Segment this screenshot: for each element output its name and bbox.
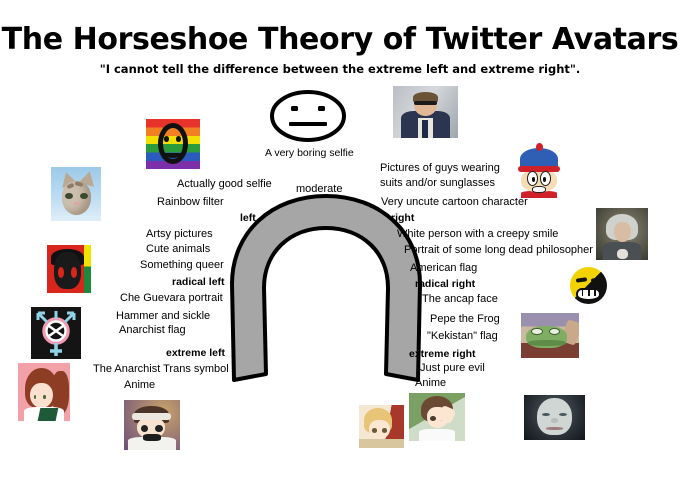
anime-girl-pink-avatar: [18, 363, 70, 421]
animeboy-headband: [132, 413, 171, 420]
animeboy-eye-left: [141, 425, 148, 432]
voldemort-eye-right: [559, 413, 567, 416]
right-axis-label: right: [391, 212, 414, 225]
extreme-right-item: Just pure evil: [420, 362, 485, 375]
radical-right-label: radical right: [415, 278, 475, 291]
ancap-face-avatar: [567, 263, 611, 307]
left-moderate-item: Rainbow filter: [157, 196, 224, 209]
page-subtitle: "I cannot tell the difference between th…: [0, 62, 680, 76]
right-item: American flag: [410, 262, 477, 275]
radical-right-item: Pepe the Frog: [430, 313, 500, 326]
smiley-mouth: [165, 148, 181, 158]
radical-left-item: Hammer and sickle: [116, 310, 210, 323]
che-guevara-poster-avatar: [47, 245, 91, 293]
south-park-stan-avatar: [513, 140, 565, 198]
smiley-eye-right: [176, 136, 181, 142]
right-item: Portrait of some long dead philosopher: [404, 244, 593, 257]
poster-color-band: [84, 245, 91, 293]
pepe-the-frog-avatar: [521, 313, 579, 358]
right-moderate-item: Very uncute cartoon character: [381, 196, 528, 209]
extreme-left-item: The Anarchist Trans symbol: [93, 363, 229, 376]
anarchist-trans-glyph-icon: [31, 307, 81, 359]
rainbow-smiley-avatar: [146, 119, 200, 169]
left-item: Artsy pictures: [146, 228, 213, 241]
radical-right-item: "Kekistan" flag: [427, 330, 498, 343]
kitten-nose: [74, 202, 79, 206]
kitten-eye-right: [80, 193, 88, 199]
smiley-eye-left: [164, 136, 169, 142]
animeboy-eye-right: [155, 425, 162, 432]
suit-sunglasses-photo-avatar: [393, 86, 458, 138]
voldemort-mouth: [546, 427, 563, 430]
anime-blonde-avatar: [359, 405, 404, 448]
meme-canvas: The Horseshoe Theory of Twitter Avatars …: [0, 0, 680, 488]
anime-collar: [37, 408, 57, 421]
che-highlight-right: [71, 267, 77, 278]
radical-left-item: Anarchist flag: [119, 324, 186, 337]
extreme-right-item: Anime: [415, 377, 446, 390]
blonde-desk: [359, 439, 404, 448]
page-title: The Horseshoe Theory of Twitter Avatars: [0, 22, 680, 57]
portrait-cravat: [617, 249, 628, 259]
radical-left-item: Che Guevara portrait: [120, 292, 223, 305]
necktie: [422, 120, 428, 138]
extreme-right-label: extreme right: [409, 348, 476, 361]
boring-selfie-caption: A very boring selfie: [265, 147, 354, 160]
voltaire-portrait-avatar: [596, 208, 648, 260]
extreme-left-label: extreme left: [166, 347, 225, 360]
salute-uniform: [419, 429, 455, 441]
right-item: White person with a creepy smile: [397, 228, 558, 241]
animeboy-scarf: [143, 434, 161, 441]
neutral-face-icon: [268, 88, 348, 144]
right-moderate-item: Pictures of guys wearing: [380, 162, 500, 175]
left-item: Cute animals: [146, 243, 210, 256]
extreme-left-item: Anime: [124, 379, 155, 392]
kitten-photo-avatar: [51, 167, 101, 221]
left-axis-label: left: [240, 212, 256, 225]
anarchist-trans-symbol-avatar: [31, 307, 81, 359]
voldemort-head: [537, 398, 571, 436]
radical-left-label: radical left: [172, 276, 225, 289]
moderate-label: moderate: [296, 183, 342, 196]
left-moderate-item: Actually good selfie: [177, 178, 272, 191]
stan-pupil-left: [532, 177, 535, 182]
che-highlight-left: [58, 267, 64, 278]
blonde-eye-right: [382, 428, 387, 432]
blonde-eye-left: [372, 428, 377, 432]
voldemort-nose: [551, 418, 558, 423]
voldemort-photo-avatar: [524, 395, 585, 440]
sunglasses-icon: [414, 101, 436, 105]
stan-hat-brim: [518, 166, 560, 172]
right-moderate-item: suits and/or sunglasses: [380, 177, 495, 190]
radical-right-item: The ancap face: [422, 293, 498, 306]
anime-boy-headband-avatar: [124, 400, 180, 450]
left-item: Something queer: [140, 259, 224, 272]
pepe-lips: [528, 340, 566, 346]
anime-salute-girl-avatar: [409, 393, 465, 441]
